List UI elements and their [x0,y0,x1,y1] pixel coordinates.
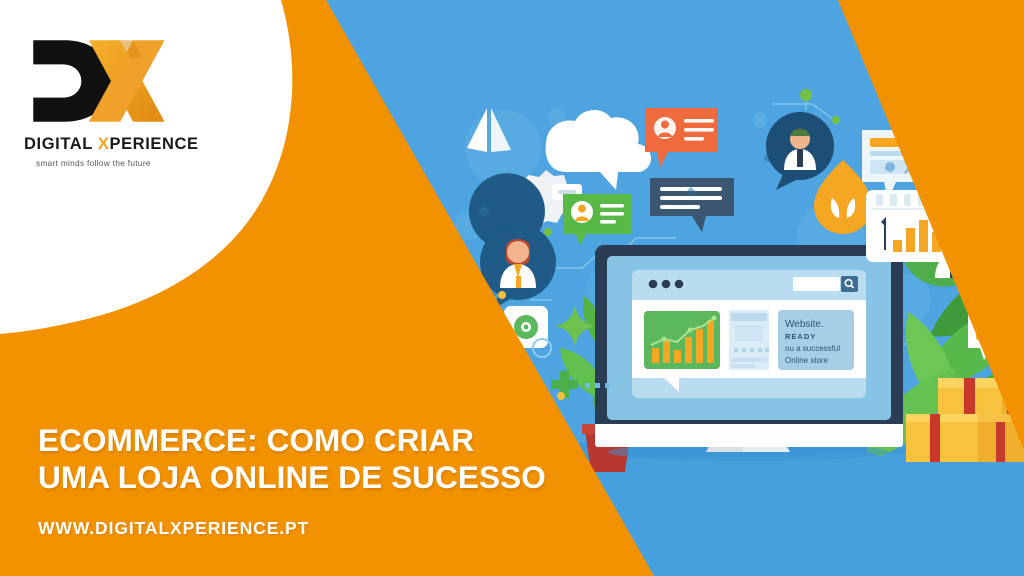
browser-dots [649,280,684,289]
screen-text-panel: Website. READY ou a successful Online st… [778,310,854,370]
search-field [793,277,840,291]
brand-logo: DIGITAL XPERIENCE smart minds follow the… [18,34,218,168]
headline-line-1: ECOMMERCE: COMO CRIAR [38,422,638,459]
dx-monogram-icon [24,34,172,128]
search-button [841,276,858,292]
dot-row [585,383,610,388]
website-url: WWW.DIGITALXPERIENCE.PT [38,518,309,539]
headline: ECOMMERCE: COMO CRIAR UMA LOJA ONLINE DE… [38,422,638,496]
brand-word-digital: DIGITAL [24,135,98,153]
browser-window: Website. READY ou a successful Online st… [632,270,866,398]
banner-canvas: Website. READY ou a successful Online st… [0,0,1024,576]
brand-wordmark: DIGITAL XPERIENCE [24,136,218,153]
screen-text-line1: Website. [785,319,824,330]
monitor-illustration: Website. READY ou a successful Online st… [595,245,903,461]
content-block [729,310,769,370]
screen-text-line4: Online store [785,356,829,365]
brand-word-x: X [98,135,110,153]
brand-word-perience: PERIENCE [109,135,198,153]
brand-tagline: smart minds follow the future [36,159,218,168]
screen-text-line3: ou a successful [785,344,840,353]
headline-line-2: UMA LOJA ONLINE DE SUCESSO [38,459,638,496]
screen-text-line2: READY [785,332,816,341]
chart-card [644,311,720,369]
